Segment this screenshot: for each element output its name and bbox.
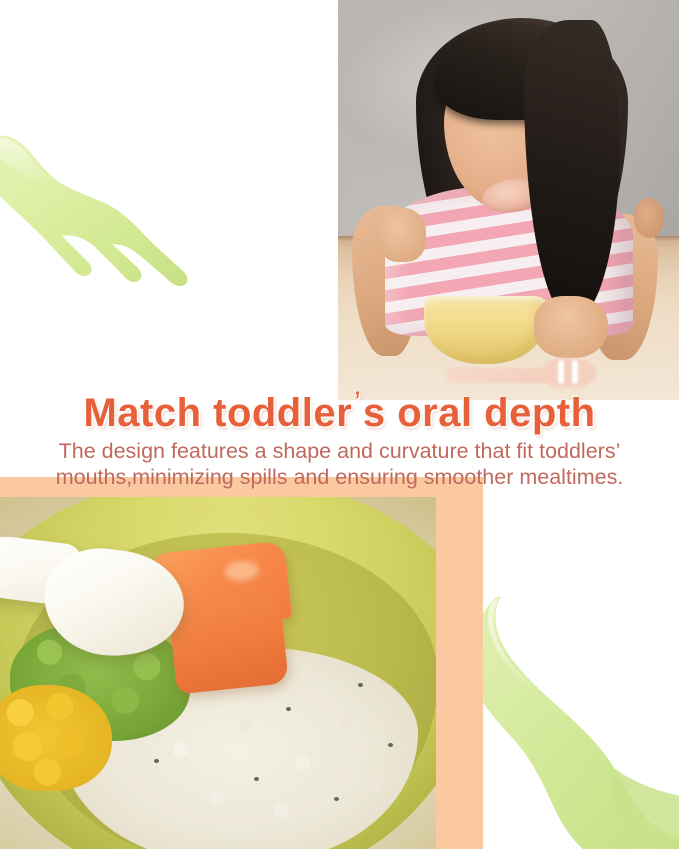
rice-speck xyxy=(154,759,159,763)
rice-speck xyxy=(358,683,363,687)
fork-handle xyxy=(446,368,556,383)
child-ear xyxy=(634,198,664,238)
green-fork-icon xyxy=(0,86,258,316)
page-headline: Match toddler’s oral depth xyxy=(0,388,679,433)
panel-food-closeup-photo xyxy=(0,497,436,849)
corn-kernels xyxy=(0,685,112,791)
subtitle-line-1: The design features a shape and curvatur… xyxy=(59,439,621,463)
child-left-hand xyxy=(378,208,426,262)
panel-green-spoon xyxy=(483,477,679,849)
child-right-hand xyxy=(534,296,608,358)
fork-head xyxy=(542,358,596,388)
rice-speck xyxy=(388,743,393,747)
fork-tine xyxy=(558,360,564,384)
pink-fork-foreground xyxy=(446,356,596,390)
panel-child-eating-photo xyxy=(338,0,679,400)
rice-speck xyxy=(286,707,291,711)
rice-speck xyxy=(334,797,339,801)
rice-speck xyxy=(254,777,259,781)
product-marketing-image: Match toddler’s oral depth The design fe… xyxy=(0,0,679,849)
green-spoon-icon xyxy=(483,501,679,849)
panel-green-fork xyxy=(0,0,338,392)
subtitle-line-2: mouths,minimizing spills and ensuring sm… xyxy=(0,464,679,490)
page-subtitle: The design features a shape and curvatur… xyxy=(0,438,679,490)
headline-apostrophe: ’ xyxy=(352,386,363,419)
headline-part-one: Match toddler xyxy=(83,391,352,435)
fork-tine xyxy=(572,360,578,384)
headline-part-two: s oral depth xyxy=(363,391,596,435)
